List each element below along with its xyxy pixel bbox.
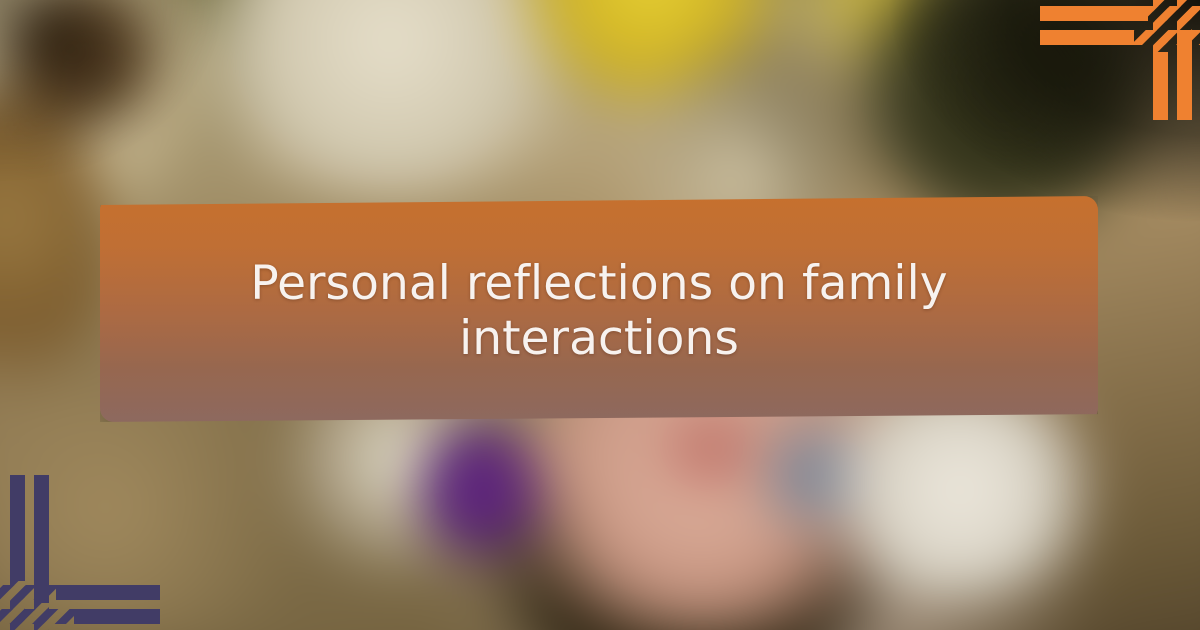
title-card: Personal reflections on family interacti… bbox=[100, 196, 1098, 422]
corner-bracket-top-right-icon bbox=[1040, 0, 1200, 120]
corner-bracket-bottom-left bbox=[0, 475, 160, 630]
banner-canvas: Personal reflections on family interacti… bbox=[0, 0, 1200, 630]
page-title: Personal reflections on family interacti… bbox=[100, 256, 1098, 366]
corner-bracket-bottom-left-icon bbox=[0, 475, 160, 630]
corner-bracket-top-right bbox=[1040, 0, 1200, 120]
